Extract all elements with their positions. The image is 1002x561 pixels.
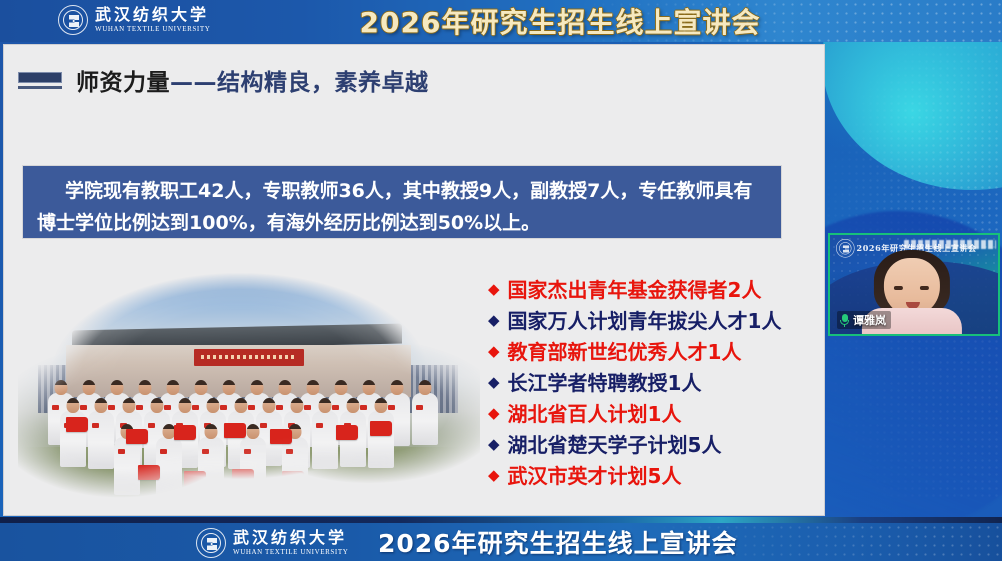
participant-name-label: 谭雅岚	[853, 312, 886, 328]
header-brand-text: 武汉纺织大学 WUHAN TEXTILE UNIVERSITY	[95, 7, 210, 33]
footer-brand: 武汉纺织大学 WUHAN TEXTILE UNIVERSITY	[196, 528, 348, 558]
university-name-cn: 武汉纺织大学	[95, 7, 210, 23]
honors-list: ◆国家杰出青年基金获得者2人 ◆国家万人计划青年拔尖人才1人 ◆教育部新世纪优秀…	[488, 273, 818, 490]
photo-chinese-flag	[336, 425, 358, 440]
diamond-bullet-icon: ◆	[488, 375, 500, 390]
university-name-en: WUHAN TEXTILE UNIVERSITY	[233, 549, 348, 556]
university-seal-icon	[196, 528, 226, 558]
photo-chinese-flag	[232, 469, 254, 484]
photo-chinese-flag	[282, 471, 304, 486]
presentation-slide[interactable]: 师资力量——结构精良，素养卓越 学院现有教职工42人，专职教师36人，其中教授9…	[3, 44, 825, 516]
photo-red-banner	[194, 349, 304, 366]
footer-brand-text: 武汉纺织大学 WUHAN TEXTILE UNIVERSITY	[233, 530, 348, 556]
photo-chinese-flag	[224, 423, 246, 438]
photo-chinese-flag	[184, 471, 206, 486]
list-item: ◆国家杰出青年基金获得者2人	[488, 273, 818, 304]
honor-label: 教育部新世纪优秀人才1人	[508, 336, 742, 365]
slide-heading: 师资力量——结构精良，素养卓越	[18, 63, 429, 97]
diamond-bullet-icon: ◆	[488, 344, 500, 359]
list-item: ◆湖北省楚天学子计划5人	[488, 428, 818, 459]
list-item: ◆国家万人计划青年拔尖人才1人	[488, 304, 818, 335]
honor-label: 国家杰出青年基金获得者2人	[508, 274, 762, 303]
diamond-bullet-icon: ◆	[488, 282, 500, 297]
header-brand: 武汉纺织大学 WUHAN TEXTILE UNIVERSITY	[58, 5, 210, 35]
photo-chinese-flag	[138, 465, 160, 480]
photo-chinese-flag	[126, 429, 148, 444]
microphone-on-icon[interactable]	[840, 314, 849, 327]
honor-label: 湖北省百人计划1人	[508, 398, 682, 427]
faculty-group-photo	[18, 265, 480, 516]
heading-accent-bar-icon	[18, 72, 62, 89]
photo-chinese-flag	[270, 429, 292, 444]
list-item: ◆教育部新世纪优秀人才1人	[488, 335, 818, 366]
participant-eye-right	[920, 286, 929, 290]
university-name-en: WUHAN TEXTILE UNIVERSITY	[95, 26, 210, 33]
diamond-bullet-icon: ◆	[488, 406, 500, 421]
slide-heading-main: 师资力量	[76, 70, 170, 96]
honor-label: 长江学者特聘教授1人	[508, 367, 702, 396]
honor-label: 武汉市英才计划5人	[508, 460, 682, 489]
virtual-background-title-blurred	[904, 240, 996, 249]
list-item: ◆长江学者特聘教授1人	[488, 366, 818, 397]
slide-heading-sub: ——结构精良，素养卓越	[170, 70, 429, 96]
photo-image	[18, 265, 480, 516]
diamond-bullet-icon: ◆	[488, 437, 500, 452]
honor-label: 国家万人计划青年拔尖人才1人	[508, 305, 782, 334]
diamond-bullet-icon: ◆	[488, 468, 500, 483]
photo-chinese-flag	[66, 417, 88, 432]
photo-chinese-flag	[174, 425, 196, 440]
faculty-summary-box: 学院现有教职工42人，专职教师36人，其中教授9人，副教授7人，专任教师具有博士…	[22, 165, 782, 239]
participant-video-tile[interactable]: 2026年研究生招生线上宣讲会 谭雅岚	[828, 233, 1000, 336]
honor-label: 湖北省楚天学子计划5人	[508, 429, 722, 458]
participant-eye-left	[894, 286, 903, 290]
diamond-bullet-icon: ◆	[488, 313, 500, 328]
university-seal-icon	[836, 239, 855, 258]
faculty-summary-text: 学院现有教职工42人，专职教师36人，其中教授9人，副教授7人，专任教师具有博士…	[37, 175, 767, 239]
footer-title: 2026年研究生招生线上宣讲会	[378, 523, 738, 561]
participant-name-badge: 谭雅岚	[837, 311, 891, 329]
header-title: 2026年研究生招生线上宣讲会	[340, 3, 780, 39]
university-name-cn: 武汉纺织大学	[233, 530, 348, 546]
slide-heading-text: 师资力量——结构精良，素养卓越	[76, 63, 429, 97]
top-banner: 武汉纺织大学 WUHAN TEXTILE UNIVERSITY 2026年研究生…	[0, 0, 1002, 42]
list-item: ◆武汉市英才计划5人	[488, 459, 818, 490]
university-seal-icon	[58, 5, 88, 35]
photo-chinese-flag	[370, 421, 392, 436]
list-item: ◆湖北省百人计划1人	[488, 397, 818, 428]
